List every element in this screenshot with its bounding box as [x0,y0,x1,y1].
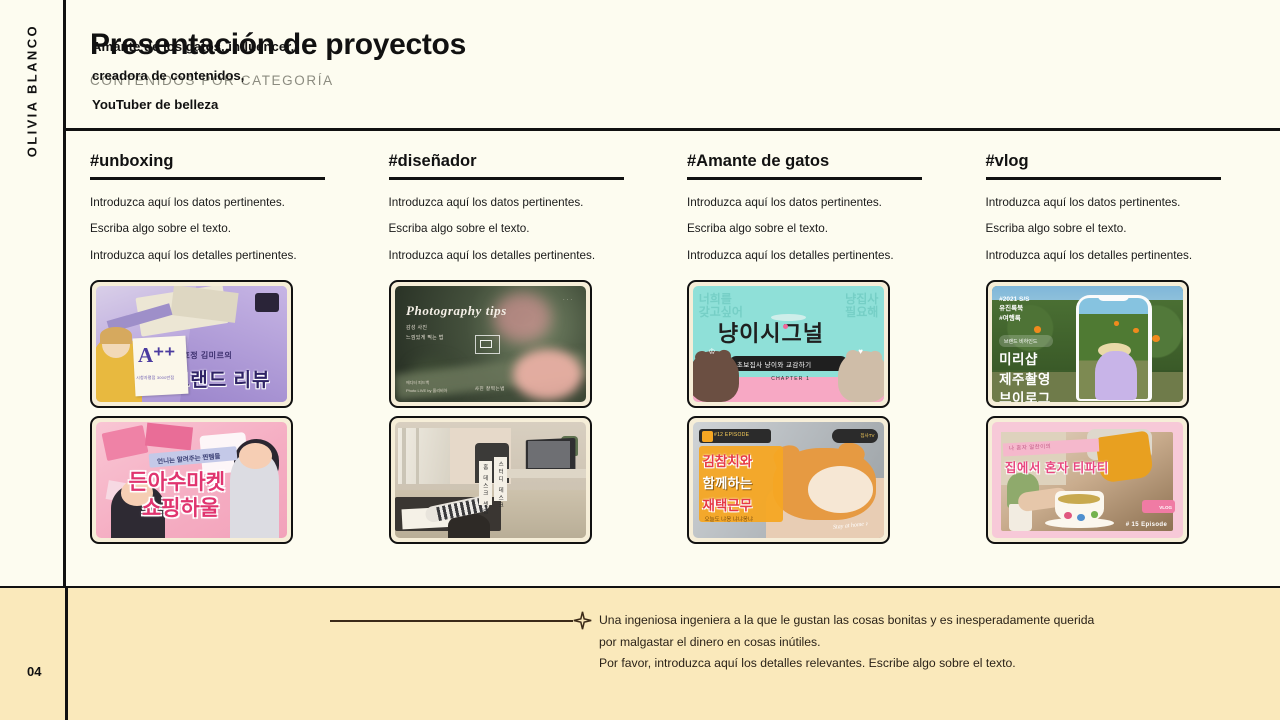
column-line: Escriba algo sobre el texto. [986,222,1263,237]
footer-description: Una ingeniosa ingeniera a la que le gust… [599,610,1219,675]
column-line: Introduzca aquí los detalles pertinentes… [90,249,367,264]
column-body: Introduzca aquí los datos pertinentes. E… [687,196,964,265]
thumb-script-title: Photography tips [406,303,507,319]
footer-connector-line [330,620,573,622]
column-rule [687,177,922,180]
column-heading: #Amante de gatos [687,152,964,177]
column-thumbnails: Photography tips 감성 사진 느낌있게 찍는 법 ··· 에디터… [389,280,666,544]
footer-description-line: por malgastar el dinero en cosas inútile… [599,632,1219,654]
thumb-vertical-left: 홈 데스크 셋업 [481,464,489,516]
column-heading: #unboxing [90,152,367,177]
footer-profile-line: creadora de contenidos, [92,62,342,91]
footer-profile-line: Amante de los gatos, influencer, [92,33,342,62]
column-thumbnails: 너희를 갖고싶어 냥집사 필요해 냥이시그널 초보집사 냥이와 교감하기 CHA… [687,280,964,544]
left-rail: OLIVIA BLANCO [0,0,66,586]
thumb-title: 집에서 혼자 티파티 [1005,457,1109,476]
column-thumbnails: #2021 S/S 유진룩북 #여행룩 브랜드 비하인드 미리샵 제주촬영 브이… [986,280,1263,544]
column-rule [90,177,325,180]
thumb-sub2: 느낌있게 찍는 법 [406,334,444,341]
column-heading: #vlog [986,152,1263,177]
thumbnail-home-tea-party[interactable]: 나 혼자 알찬이의 집에서 혼자 티파티 VLOG # 15 Episode [986,416,1189,544]
thumb-top-tag: #2021 S/S 유진룩북 #여행룩 [999,295,1029,324]
footer-profile-title: Amante de los gatos, influencer, creador… [92,33,342,119]
footer-rail-divider [65,588,68,720]
heart-icon: ♥ [858,347,863,356]
column-line: Introduzca aquí los datos pertinentes. [687,196,964,211]
thumbnail-photography-tips[interactable]: Photography tips 감성 사진 느낌있게 찍는 법 ··· 에디터… [389,280,592,408]
column-line: Introduzca aquí los detalles pertinentes… [687,249,964,264]
page-number: 04 [27,664,41,679]
column-rule [389,177,624,180]
column-line: Escriba algo sobre el texto. [389,222,666,237]
thumb-chapter: CHAPTER 1 [771,376,810,382]
focus-point-icon [480,340,491,348]
column-line: Introduzca aquí los datos pertinentes. [90,196,367,211]
cat-avatar-icon [702,431,713,443]
thumb-title: 냥이시그널 [718,321,824,346]
thumb-grade: A⁺⁺ [138,343,175,368]
category-columns: #unboxing Introduzca aquí los datos pert… [90,152,1262,552]
thumb-title-line2: 쇼핑하울 [142,492,219,522]
thumb-vertical-right: 스터디 데스크 [496,461,504,510]
thumbnail-unboxing-brand-review[interactable]: 방송호정 김미르의 원브랜드 리뷰 A⁺⁺ 시청자평점 3000만점 [90,280,293,408]
thumb-ghost-left: 너희를 갖고싶어 [699,293,743,318]
column-rule [986,177,1221,180]
thumbnail-cat-signal-guide[interactable]: 너희를 갖고싶어 냥집사 필요해 냥이시그널 초보집사 냥이와 교감하기 CHA… [687,280,890,408]
column-body: Introduzca aquí los datos pertinentes. E… [90,196,367,265]
thumb-title: 미리샵 제주촬영 브이로그 [999,350,1051,402]
thumb-grade-sub: 시청자평점 3000만점 [136,375,174,381]
brand-name-vertical: OLIVIA BLANCO [24,24,39,157]
slide: OLIVIA BLANCO Presentación de proyectos … [0,0,1280,720]
thumbnail-jeju-filming-vlog[interactable]: #2021 S/S 유진룩북 #여행룩 브랜드 비하인드 미리샵 제주촬영 브이… [986,280,1189,408]
thumb-logo: VLOG [1159,505,1172,510]
crown-icon: ♔ [708,347,715,356]
column-line: Introduzca aquí los detalles pertinentes… [986,249,1263,264]
thumbnail-home-office-desk-setup[interactable]: 홈 데스크 셋업 스터디 데스크 [389,416,592,544]
thumb-title-line3: 재택근무 [703,494,753,514]
thumb-episode-tag: #12 EPISODE [714,432,749,438]
thumb-footer2: Photo LIVE by 올리비아 [406,388,447,394]
thumb-sub1: 감성 사진 [406,324,427,331]
thumb-ghost-right: 냥집사 필요해 [845,293,878,318]
thumbnail-market-shopping-haul[interactable]: 언니는 알려주는 찐템들 든아수마켓 쇼핑하울 [90,416,293,544]
column-thumbnails: 방송호정 김미르의 원브랜드 리뷰 A⁺⁺ 시청자평점 3000만점 [90,280,367,544]
thumb-title-line2: 함께하는 [703,472,753,492]
footer-description-line: Una ingeniosa ingeniera a la que le gust… [599,610,1219,632]
channel-badge-icon [255,293,280,312]
thumb-sub-tag: 브랜드 비하인드 [1004,338,1038,345]
column-line: Introduzca aquí los detalles pertinentes… [389,249,666,264]
thumb-pill-text: 초보집사 냥이와 교감하기 [737,359,812,369]
column-body: Introduzca aquí los datos pertinentes. E… [389,196,666,265]
thumb-title-line1: 김참치와 [703,450,753,470]
category-column-vlog: #vlog Introduzca aquí los datos pertinen… [986,152,1263,552]
thumb-channel-tag: 집사TV [860,433,874,439]
column-line: Introduzca aquí los datos pertinentes. [389,196,666,211]
category-column-disenador: #diseñador Introduzca aquí los datos per… [389,152,666,552]
thumb-footer3: 사진 잘찍는법 [475,386,505,392]
footer-description-line: Por favor, introduzca aquí los detalles … [599,653,1219,675]
thumb-footer1: 에디터 피드백 [406,380,429,386]
thumb-title-line4: 오늘도 냐옹 냐냐옹냐 [704,515,753,523]
sparkle-icon [573,611,592,630]
column-line: Escriba algo sobre el texto. [90,222,367,237]
category-column-unboxing: #unboxing Introduzca aquí los datos pert… [90,152,367,552]
camera-controls-icon: ··· [563,297,574,303]
column-heading: #diseñador [389,152,666,177]
footer-profile-line: YouTuber de belleza [92,91,342,120]
category-column-amante-de-gatos: #Amante de gatos Introduzca aquí los dat… [687,152,964,552]
column-line: Introduzca aquí los datos pertinentes. [986,196,1263,211]
column-body: Introduzca aquí los datos pertinentes. E… [986,196,1263,265]
column-line: Escriba algo sobre el texto. [687,222,964,237]
thumbnail-cat-work-from-home[interactable]: 김참치와 함께하는 재택근무 오늘도 냐옹 냐냐옹냐 #12 EPISODE 집… [687,416,890,544]
thumb-episode: # 15 Episode [1126,522,1167,528]
